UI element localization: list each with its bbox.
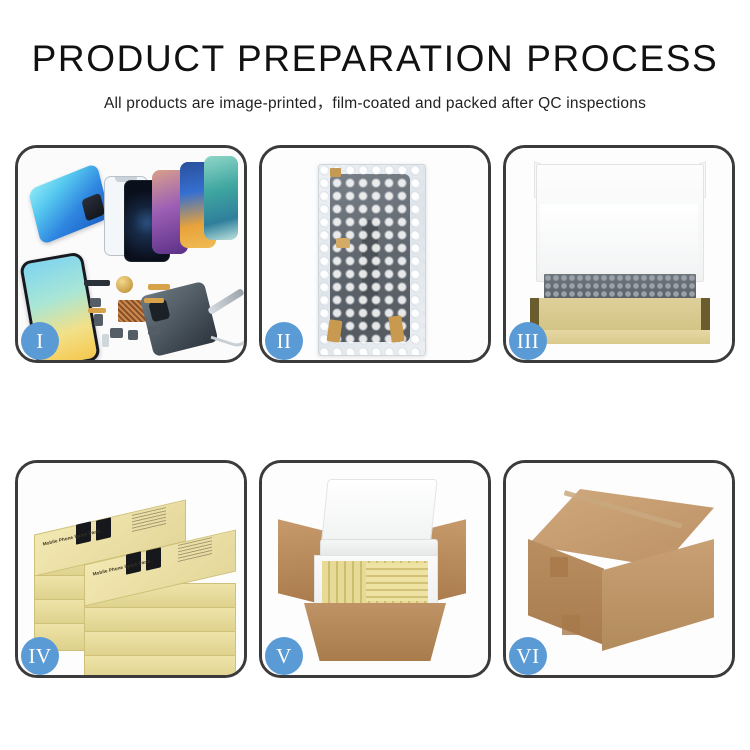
- speaker-part-icon: [84, 280, 110, 286]
- tweezers-icon: [210, 311, 244, 350]
- carton-tape-icon: [550, 557, 568, 577]
- gold-coil-part-icon: [116, 276, 133, 293]
- step-badge-6: VI: [509, 637, 547, 675]
- step-badge-3: III: [509, 322, 547, 360]
- step-panel-6: VI: [503, 460, 735, 678]
- blue-adhesive-film-icon: [28, 163, 110, 246]
- header: PRODUCT PREPARATION PROCESS All products…: [0, 0, 750, 113]
- chip-part-icon: [90, 298, 101, 307]
- page-subtitle: All products are image-printed，film-coat…: [0, 91, 750, 113]
- step-panel-3: III: [503, 145, 735, 363]
- step-badge-4: IV: [21, 637, 59, 675]
- yellow-packs-icon: [366, 563, 428, 601]
- step-panel-4: Mobile Phone Spare Parts Mobile Phone Sp…: [15, 460, 247, 678]
- phone-teal-icon: [204, 156, 238, 240]
- screwdriver-icon: [207, 288, 244, 315]
- flex-cable-icon: [144, 298, 164, 303]
- adhesive-tab-icon: [330, 168, 341, 177]
- box-stack-icon: Mobile Phone Spare Parts Mobile Phone Sp…: [28, 489, 242, 675]
- step-badge-5: V: [265, 637, 303, 675]
- phone-backplate-icon: [139, 281, 218, 357]
- box-tray-front-icon: [530, 330, 710, 344]
- step-badge-2: II: [265, 322, 303, 360]
- cardboard-carton-icon: [304, 603, 446, 661]
- chip-part-icon: [110, 328, 123, 338]
- adhesive-tab-icon: [336, 238, 350, 248]
- carton-tape-icon: [562, 615, 580, 635]
- step-panel-1: I: [15, 145, 247, 363]
- step-panel-5: V: [259, 460, 491, 678]
- step-panel-2: II: [259, 145, 491, 363]
- flex-cable-icon: [148, 284, 170, 290]
- steps-grid: I II: [15, 145, 735, 678]
- chip-part-icon: [102, 334, 109, 347]
- chip-part-icon: [94, 314, 103, 326]
- page-title: PRODUCT PREPARATION PROCESS: [0, 40, 750, 77]
- step-badge-1: I: [21, 322, 59, 360]
- product-preparation-infographic: PRODUCT PREPARATION PROCESS All products…: [0, 0, 750, 750]
- flex-cable-icon: [88, 308, 106, 313]
- box-side-icon: [84, 655, 236, 675]
- chip-part-icon: [148, 326, 160, 335]
- white-foam-sheet-icon: [540, 204, 698, 272]
- chip-part-icon: [128, 330, 138, 340]
